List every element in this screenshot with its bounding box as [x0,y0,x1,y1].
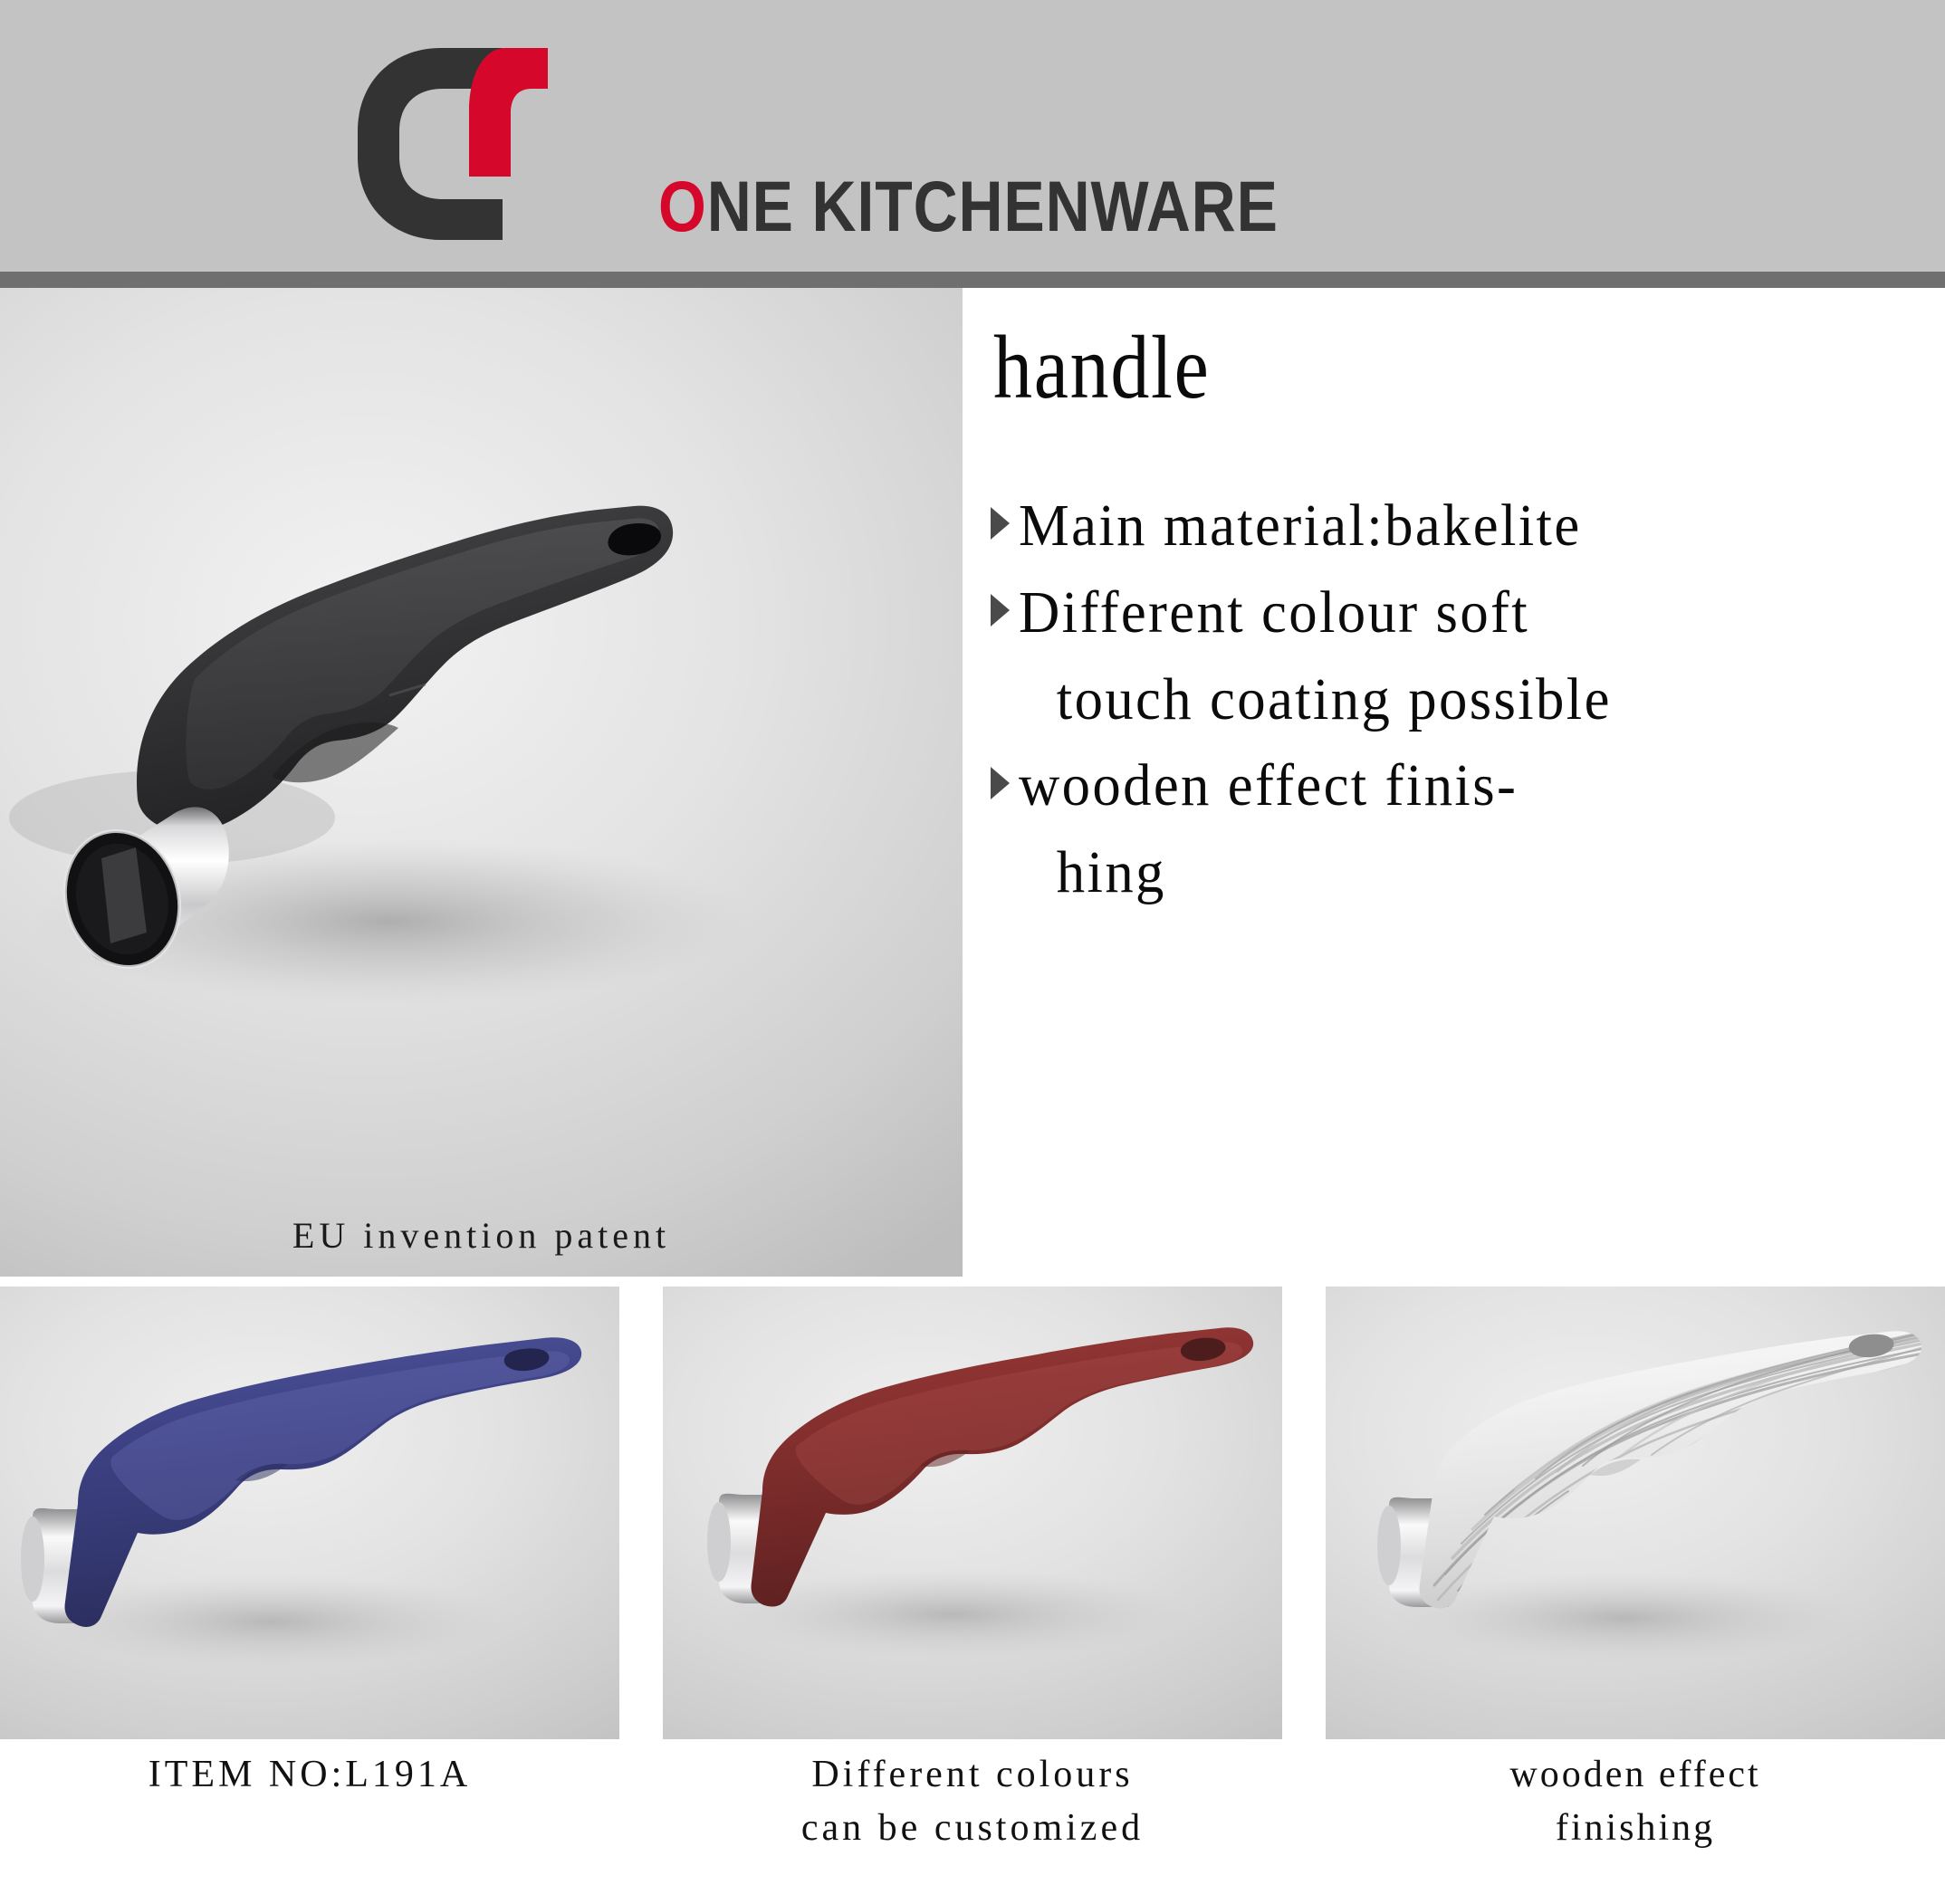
feature-item-label: touch coating possible [1019,659,1612,741]
page-title: handle [993,322,1211,413]
header-divider [0,272,1945,288]
triangle-bullet-icon [988,765,1011,801]
one-kitchenware-logo [321,41,593,244]
red-handle-photo [663,1287,1282,1739]
header-bar: ONE KITCHENWARE [0,0,1945,272]
feature-item: Different colour soft [963,572,1945,654]
variant-card: ITEM NO:L191A [0,1287,619,1904]
feature-item-label: wooden effect finis- [1019,745,1518,827]
variant-caption: ITEM NO:L191A [0,1748,619,1802]
blue-handle-render [0,1287,619,1739]
logo-mark-icon [321,41,593,244]
feature-item-label: hing [1019,832,1166,914]
wooden-effect-handle-render [1326,1287,1945,1739]
feature-item: wooden effect finis- [963,745,1945,827]
feature-item-label: Different colour soft [1019,572,1529,654]
variant-card: wooden effect finishing [1326,1287,1945,1904]
brand-wordmark-initial: O [658,166,707,246]
triangle-bullet-icon [988,592,1011,628]
wooden-effect-handle-photo [1326,1287,1945,1739]
hero-caption: EU invention patent [0,1214,963,1257]
variant-caption: Different colours can be customized [663,1748,1282,1855]
black-handle-photo: EU invention patent [0,288,963,1277]
variant-card: Different colours can be customized [663,1287,1282,1904]
bullet-spacer-icon [988,852,1011,888]
feature-item-label: Main material:bakelite [1019,485,1582,567]
product-spec-sheet: ONE KITCHENWARE [0,0,1945,1904]
black-handle-render [0,288,963,1277]
feature-item-continuation: hing [963,832,1945,914]
brand-wordmark-rest: NE KITCHENWARE [707,166,1279,246]
variant-gallery: ITEM NO:L191A [0,1287,1945,1904]
feature-list: Main material:bakelite Different colour … [963,485,1945,919]
hero-section: EU invention patent handle Main material… [0,288,1945,1277]
triangle-bullet-icon [988,505,1011,541]
feature-item: Main material:bakelite [963,485,1945,567]
red-handle-render [663,1287,1282,1739]
blue-handle-photo [0,1287,619,1739]
variant-caption: wooden effect finishing [1326,1748,1945,1855]
brand-wordmark: ONE KITCHENWARE [658,170,1279,242]
bullet-spacer-icon [988,679,1011,715]
hero-info-panel: handle Main material:bakelite Different … [963,288,1945,1277]
feature-item-continuation: touch coating possible [963,659,1945,741]
